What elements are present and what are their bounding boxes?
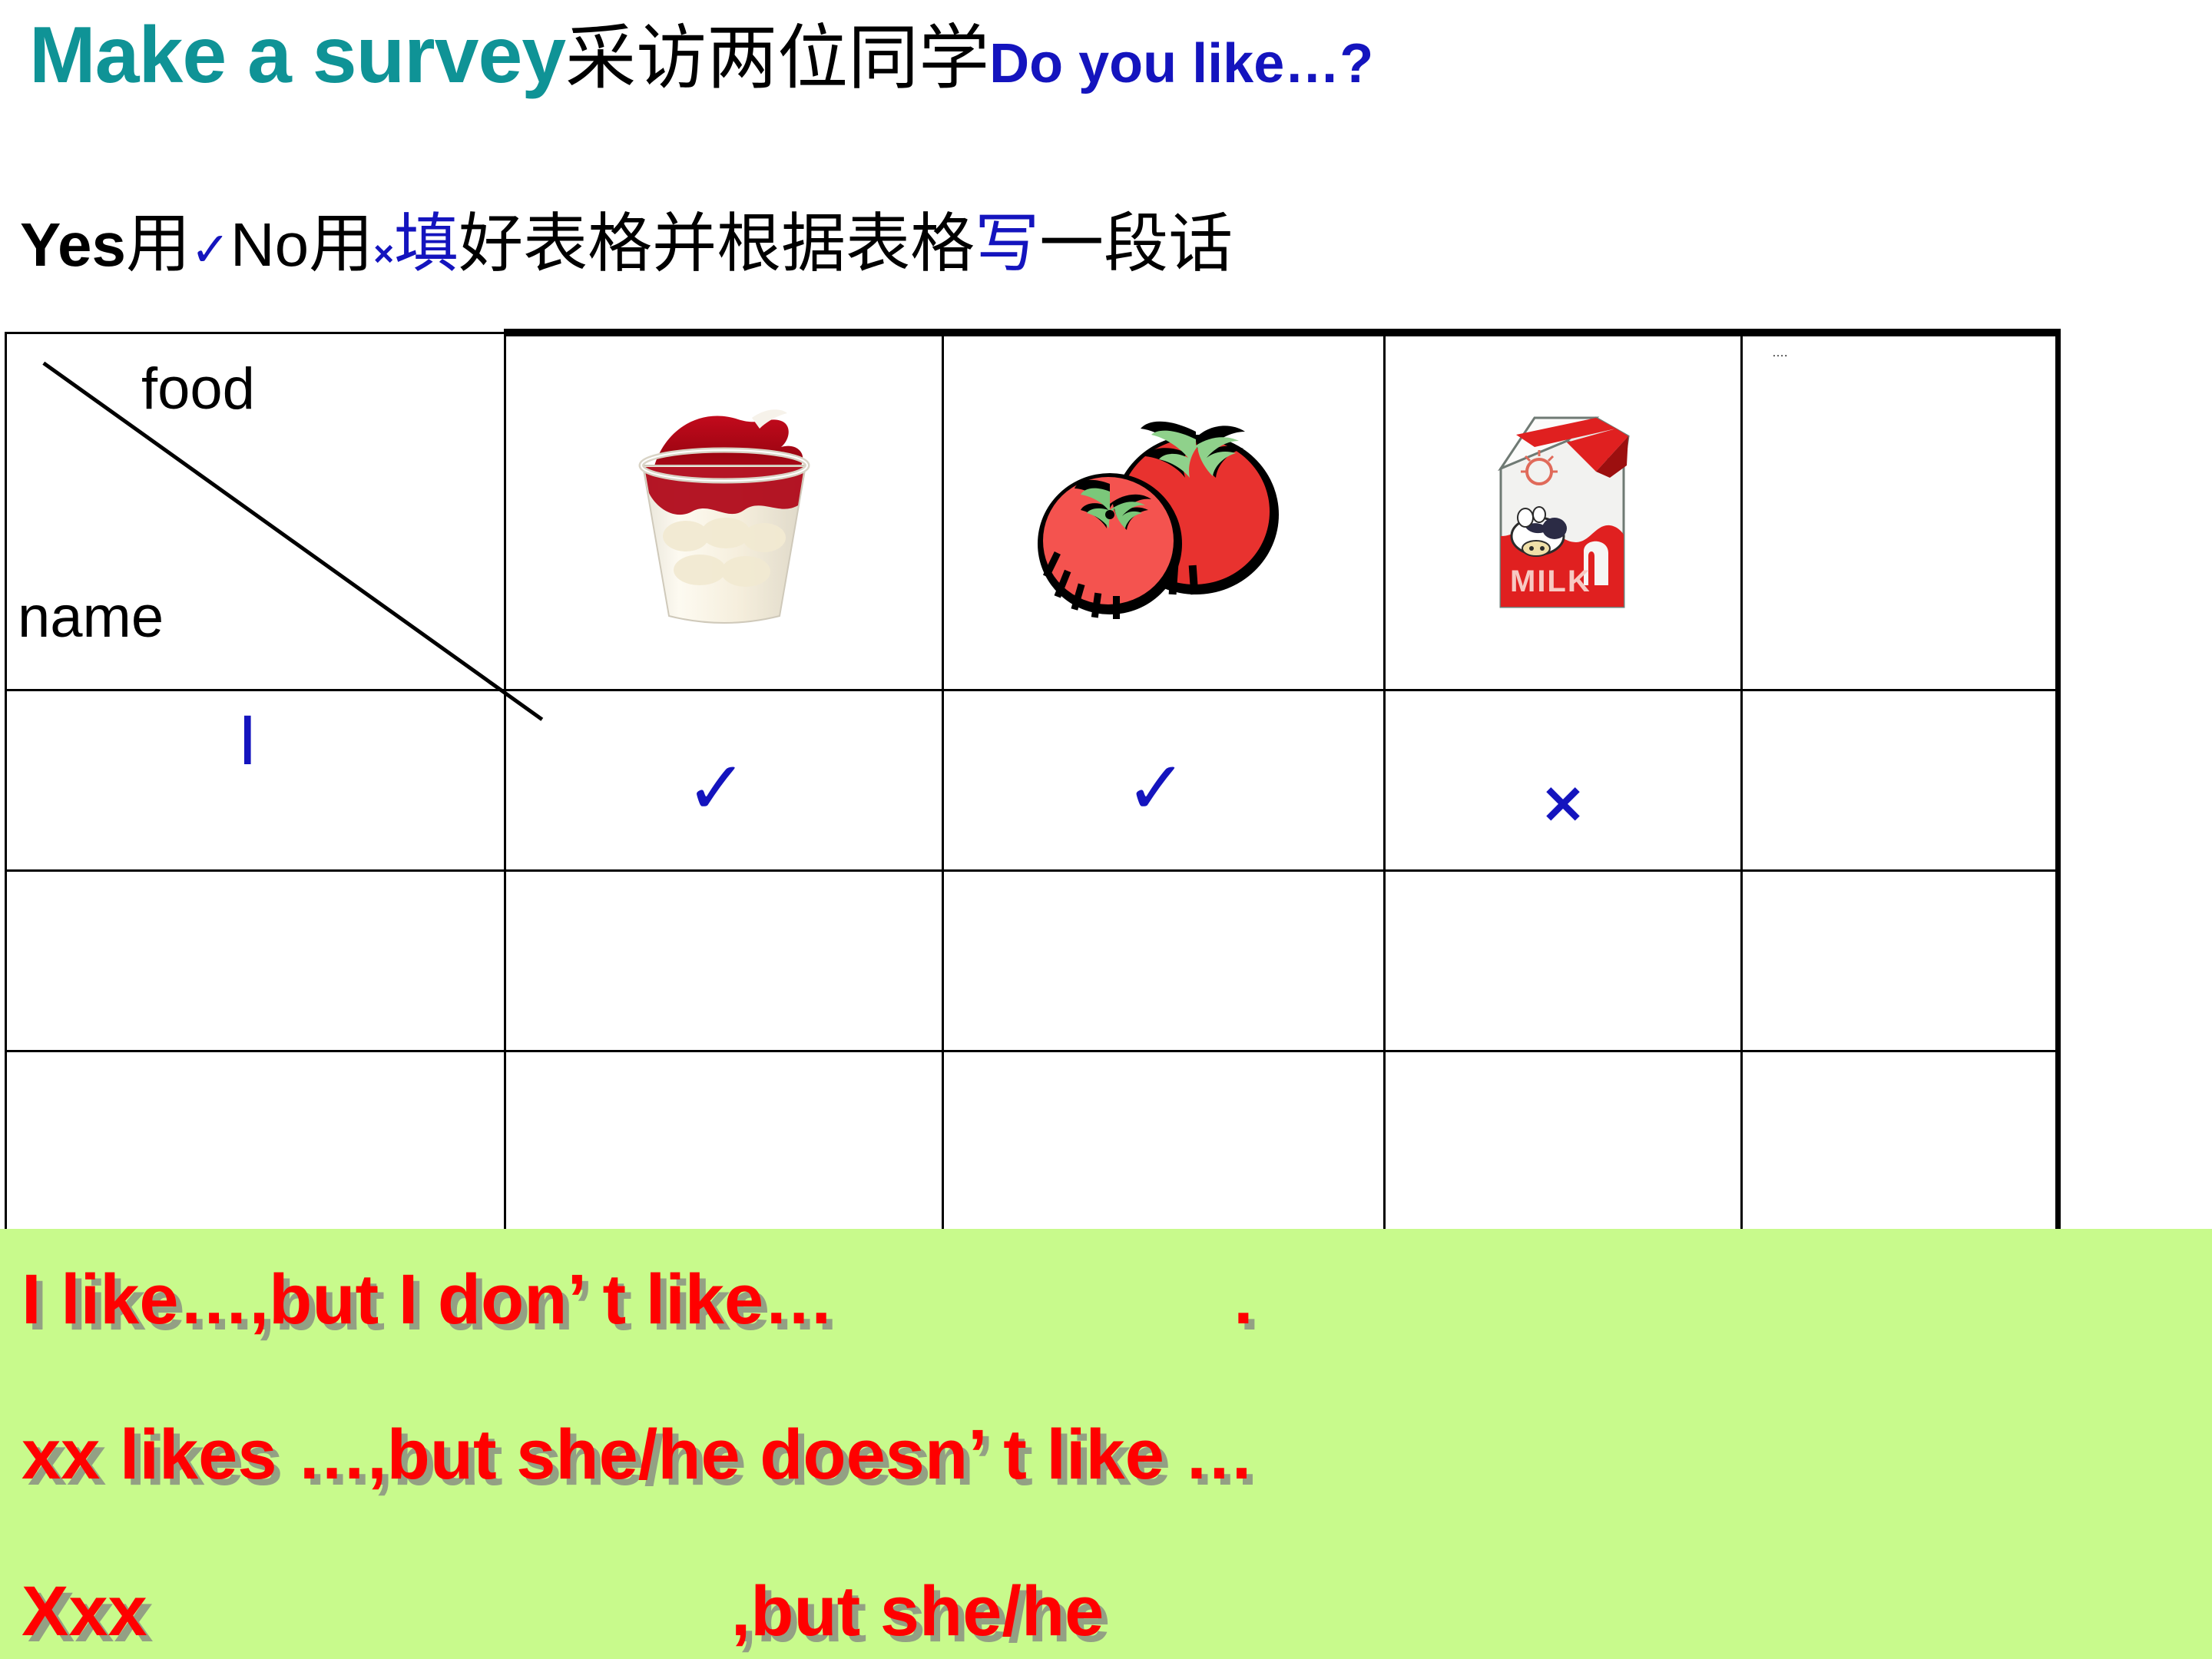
row-2-milk-cell[interactable]	[1385, 870, 1742, 1051]
row-1-other-cell[interactable]	[1742, 690, 2058, 870]
header-corner-cell: food name	[6, 333, 505, 690]
milk-carton-icon: MILK	[1481, 401, 1646, 624]
instruction-write-verb: 写	[975, 206, 1039, 281]
title-question: Do you like…?	[989, 33, 1373, 94]
table-row: I ✓ ✓ ×	[6, 690, 2058, 870]
ice-cream-cup-icon	[609, 386, 839, 639]
row-1-milk-cell[interactable]: ×	[1385, 690, 1742, 870]
table-row	[6, 870, 2058, 1051]
tomatoes-icon	[1033, 401, 1294, 624]
row-1-name-cell[interactable]: I	[6, 690, 505, 870]
survey-table: food name	[5, 329, 2057, 1229]
summary-line-3: Xxx,but she/he	[22, 1576, 1104, 1647]
row-1-name-value: I	[237, 705, 257, 776]
instruction-yes-label: Yes	[20, 210, 126, 279]
instruction-line: Yes用✓No用×填好表格并根据表格写一段话	[20, 211, 1233, 276]
instruction-yong-1: 用	[126, 206, 190, 281]
check-mark-icon: ✓	[190, 221, 230, 277]
title-chinese: 采访两位同学	[565, 17, 989, 99]
header-food-label: food	[141, 356, 255, 422]
header-other-dots: ….	[1772, 347, 1787, 359]
summary-panel: I like…,but I don’ t like…. xx likes …,b…	[0, 1229, 2212, 1659]
table-row	[6, 1051, 2058, 1231]
cross-mark-icon: ×	[373, 233, 394, 273]
header-cell-milk: MILK	[1385, 333, 1742, 690]
row-2-tomatoes-cell[interactable]	[943, 870, 1385, 1051]
instruction-fill-verb: 填	[394, 206, 459, 281]
instruction-tail-text: 一段话	[1039, 206, 1233, 281]
row-3-name-cell[interactable]	[6, 1051, 505, 1231]
row-3-ice-cream-cell[interactable]	[505, 1051, 943, 1231]
row-3-milk-cell[interactable]	[1385, 1051, 1742, 1231]
row-3-tomatoes-cell[interactable]	[943, 1051, 1385, 1231]
header-name-label: name	[18, 584, 164, 651]
summary-line-1-period: .	[1233, 1260, 1253, 1339]
instruction-yong-2: 用	[309, 206, 373, 281]
summary-line-1-text: I like…,but I don’ t like…	[22, 1260, 834, 1339]
summary-line-2-text: xx likes …,but she/he doesn’ t like …	[22, 1416, 1254, 1494]
header-cell-tomatoes	[943, 333, 1385, 690]
svg-text:MILK: MILK	[1510, 565, 1591, 598]
header-cell-ice-cream	[505, 333, 943, 690]
summary-line-3-text: ,but she/he	[731, 1572, 1104, 1651]
cross-mark-icon: ×	[1539, 774, 1587, 831]
summary-line-2: xx likes …,but she/he doesn’ t like …	[22, 1419, 1254, 1490]
header-cell-other: ….	[1742, 333, 2058, 690]
table-header-row: food name	[6, 333, 2058, 690]
summary-line-3-name: Xxx	[22, 1572, 147, 1651]
summary-line-1: I like…,but I don’ t like….	[22, 1264, 1253, 1335]
row-2-name-cell[interactable]	[6, 870, 505, 1051]
check-mark-icon: ✓	[686, 751, 747, 825]
check-mark-icon: ✓	[1125, 751, 1187, 825]
instruction-no-label: No	[230, 210, 309, 279]
instruction-middle-text: 好表格并根据表格	[459, 206, 975, 281]
row-3-other-cell[interactable]	[1742, 1051, 2058, 1231]
title-english: Make a survey	[29, 11, 565, 100]
page-title: Make a survey采访两位同学Do you like…?	[29, 15, 1373, 95]
row-1-ice-cream-cell[interactable]: ✓	[505, 690, 943, 870]
row-2-other-cell[interactable]	[1742, 870, 2058, 1051]
row-1-tomatoes-cell[interactable]: ✓	[943, 690, 1385, 870]
row-2-ice-cream-cell[interactable]	[505, 870, 943, 1051]
